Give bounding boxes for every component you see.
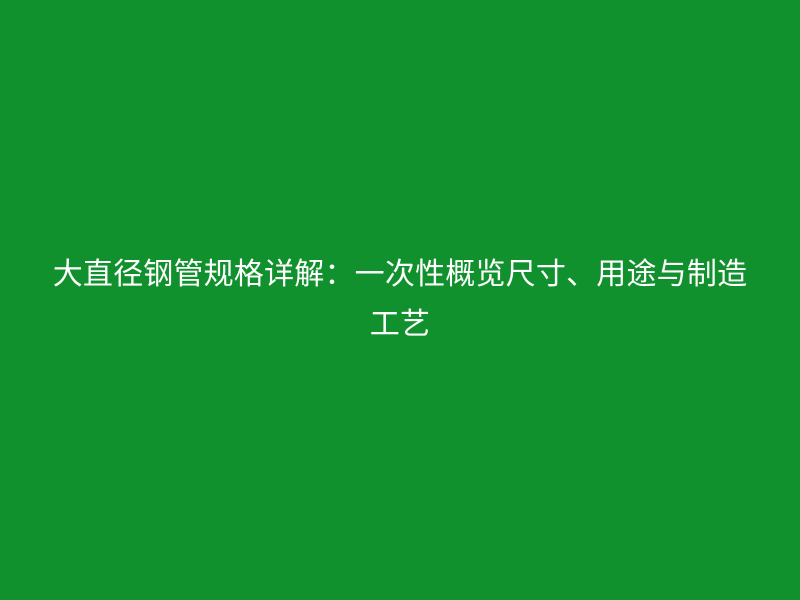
green-banner-canvas: 大直径钢管规格详解：一次性概览尺寸、用途与制造工艺 bbox=[0, 0, 800, 600]
page-title: 大直径钢管规格详解：一次性概览尺寸、用途与制造工艺 bbox=[50, 250, 750, 350]
title-block: 大直径钢管规格详解：一次性概览尺寸、用途与制造工艺 bbox=[50, 250, 750, 350]
